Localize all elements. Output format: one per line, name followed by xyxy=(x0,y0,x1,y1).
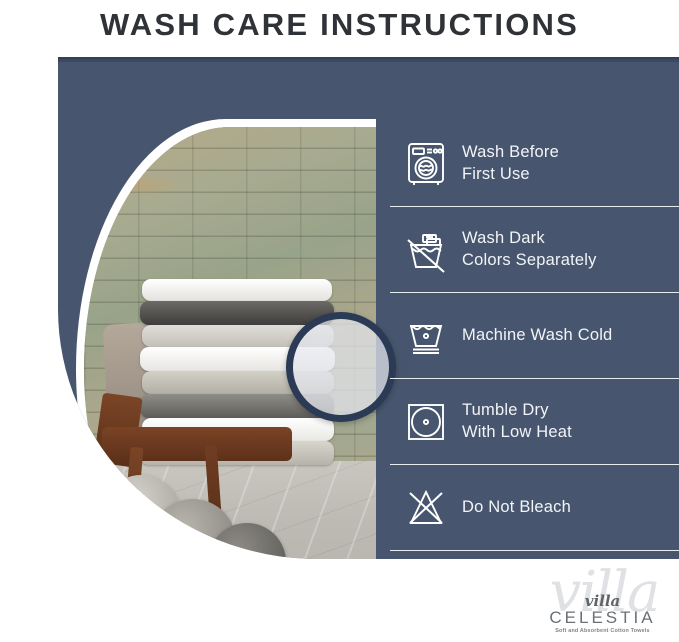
page-title: WASH CARE INSTRUCTIONS xyxy=(0,0,679,50)
wash-dark-separately-icon xyxy=(390,227,462,273)
care-row-machine-wash-cold: Machine Wash Cold xyxy=(390,292,679,378)
care-row-label: Tumble Dry With Low Heat xyxy=(462,400,572,442)
care-row-label: Wash Dark Colors Separately xyxy=(462,228,597,270)
machine-wash-cold-icon xyxy=(390,313,462,359)
towel-stack-item xyxy=(142,279,332,301)
care-row-wash-dark-colors-separately: Wash Dark Colors Separately xyxy=(390,206,679,292)
care-row-do-not-bleach: Do Not Bleach xyxy=(390,464,679,550)
do-not-bleach-icon xyxy=(390,485,462,531)
care-row-wash-before-first-use: Wash Before First Use xyxy=(390,121,679,206)
magnifier-circle-icon xyxy=(286,312,396,422)
panel-top-edge xyxy=(58,59,679,62)
care-instruction-list: Wash Before First Use Wash Dark Colors S… xyxy=(390,121,679,559)
navy-panel: Wash Before First Use Wash Dark Colors S… xyxy=(58,57,679,559)
tumble-dry-low-icon xyxy=(390,400,462,444)
care-row-label: Machine Wash Cold xyxy=(462,325,612,346)
infographic-page: WASH CARE INSTRUCTIONS xyxy=(0,0,679,642)
washing-machine-icon xyxy=(390,141,462,187)
logo-wordmark: CELESTIA xyxy=(530,608,675,628)
care-row-label: Do Not Bleach xyxy=(462,497,571,518)
towel-stack-item xyxy=(140,301,334,325)
care-row-do-not-iron: Do Not Iron xyxy=(390,550,679,559)
logo-tagline: Soft and Absorbent Cotton Towels xyxy=(530,628,675,634)
brand-logo: villa villa CELESTIA Soft and Absorbent … xyxy=(530,562,675,640)
care-row-label: Wash Before First Use xyxy=(462,142,559,184)
care-row-tumble-dry-with-low-heat: Tumble Dry With Low Heat xyxy=(390,378,679,464)
